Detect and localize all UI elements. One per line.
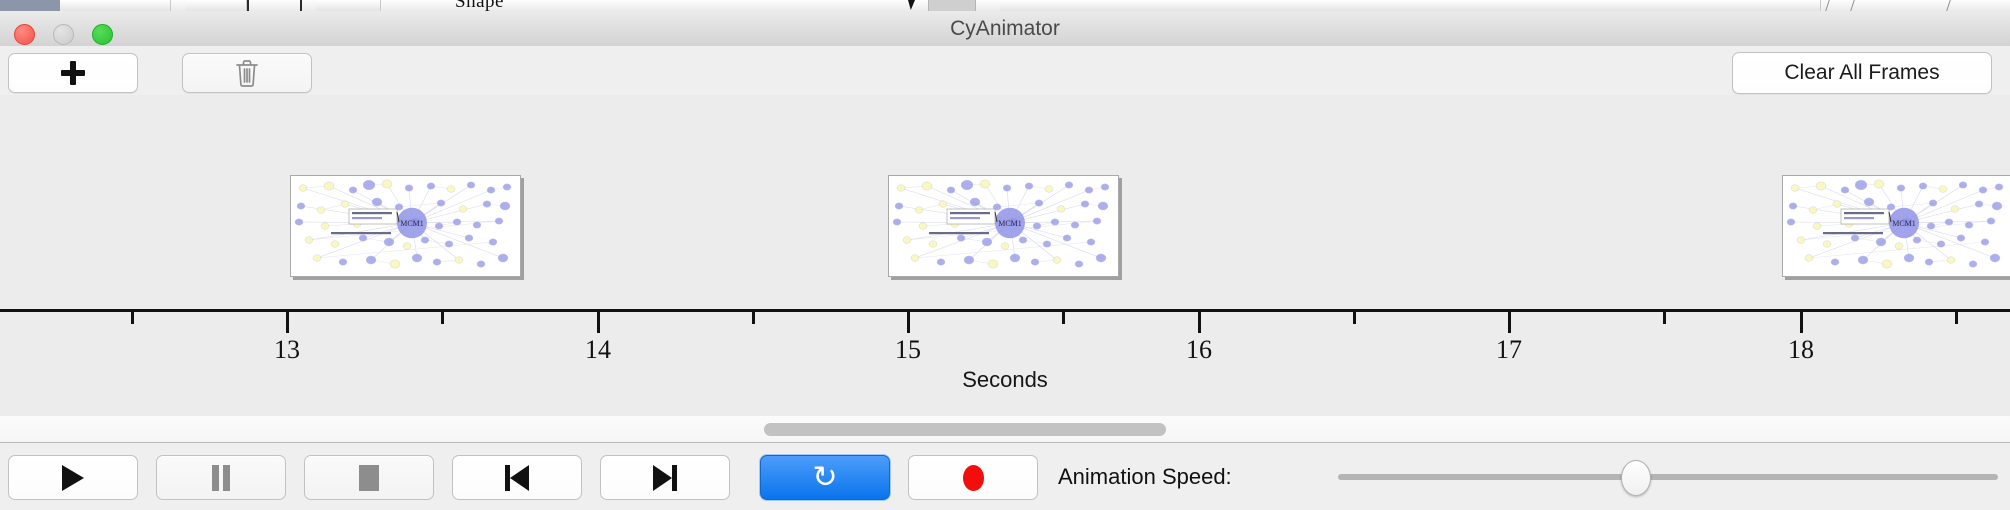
background-segment <box>186 0 247 11</box>
record-button[interactable] <box>908 455 1038 500</box>
toolbar: Clear All Frames <box>0 46 2010 96</box>
timeline-tick-minor <box>131 312 134 324</box>
timeline-tick-label: 17 <box>1496 335 1522 365</box>
timeline-axis-line <box>0 309 2010 312</box>
timeline-scrollbar-thumb[interactable] <box>764 423 1166 436</box>
background-shape-label: Shape <box>455 0 504 12</box>
timeline-scrollbar[interactable] <box>0 416 2010 443</box>
background-divider <box>1850 0 1855 11</box>
play-icon <box>62 465 84 491</box>
timeline-tick-major <box>1198 312 1201 333</box>
record-icon <box>963 465 984 491</box>
timeline-tick-minor <box>752 312 755 324</box>
timeline-tick-major <box>286 312 289 333</box>
timeline-tick-label: 15 <box>895 335 921 365</box>
clear-all-frames-button[interactable]: Clear All Frames <box>1732 52 1992 94</box>
cyanimator-window: Shape CyAnimator Clear All Frames Secon <box>0 0 2010 510</box>
timeline-tick-major <box>907 312 910 333</box>
animation-speed-slider-handle[interactable] <box>1621 460 1651 496</box>
background-divider <box>1825 0 1830 11</box>
stop-icon <box>359 465 379 491</box>
background-segment <box>316 0 381 11</box>
timeline-frame[interactable]: MCM1 <box>290 175 521 277</box>
clear-all-frames-label: Clear All Frames <box>1784 61 1939 85</box>
animation-speed-label: Animation Speed: <box>1058 455 1232 498</box>
timeline-tick-minor <box>1062 312 1065 324</box>
timeline-axis-title: Seconds <box>0 367 2010 393</box>
background-segment <box>60 0 171 11</box>
background-tick <box>247 0 249 11</box>
svg-text:MCM1: MCM1 <box>998 219 1022 228</box>
network-graph-thumbnail: MCM1 <box>889 176 1118 276</box>
add-frame-button[interactable] <box>8 53 138 93</box>
timeline-tick-label: 16 <box>1186 335 1212 365</box>
timeline-tick-label: 14 <box>585 335 611 365</box>
window-title: CyAnimator <box>0 12 2010 46</box>
timeline-tick-label: 13 <box>274 335 300 365</box>
timeline-frame[interactable]: MCM1 <box>1782 175 2010 277</box>
timeline-frame[interactable]: MCM1 <box>888 175 1119 277</box>
skip-forward-icon <box>653 465 677 491</box>
timeline-tick-minor <box>441 312 444 324</box>
background-divider <box>1946 0 1951 11</box>
timeline-tick-minor <box>1955 312 1958 324</box>
trash-icon <box>234 58 260 88</box>
delete-frame-button[interactable] <box>182 53 312 93</box>
first-frame-button[interactable] <box>452 455 582 500</box>
network-graph-thumbnail: MCM1 <box>291 176 520 276</box>
last-frame-button[interactable] <box>600 455 730 500</box>
background-tick <box>300 0 302 11</box>
playback-control-bar: ↻ Animation Speed: <box>0 443 2010 510</box>
timeline-panel[interactable]: Seconds 2131415161718MCM1MCM1MCM1 <box>0 95 2010 417</box>
loop-button[interactable]: ↻ <box>760 455 890 500</box>
svg-text:MCM1: MCM1 <box>1892 219 1916 228</box>
skip-back-icon <box>505 465 529 491</box>
background-box <box>928 0 976 11</box>
background-tab-selected <box>0 0 60 11</box>
background-marker <box>908 0 915 10</box>
loop-icon: ↻ <box>812 463 837 493</box>
background-window-strip: Shape <box>0 0 2010 12</box>
plus-icon <box>61 61 85 85</box>
timeline-tick-major <box>1800 312 1803 333</box>
background-segment <box>1000 0 1821 11</box>
pause-icon <box>211 465 231 491</box>
svg-text:MCM1: MCM1 <box>400 219 424 228</box>
animation-speed-slider[interactable] <box>1338 474 1998 480</box>
timeline-tick-minor <box>1663 312 1666 324</box>
pause-button[interactable] <box>156 455 286 500</box>
network-graph-thumbnail: MCM1 <box>1783 176 2010 276</box>
timeline-tick-label: 18 <box>1788 335 1814 365</box>
timeline-tick-major <box>597 312 600 333</box>
play-button[interactable] <box>8 455 138 500</box>
stop-button[interactable] <box>304 455 434 500</box>
timeline-tick-minor <box>1353 312 1356 324</box>
timeline-tick-major <box>1508 312 1511 333</box>
